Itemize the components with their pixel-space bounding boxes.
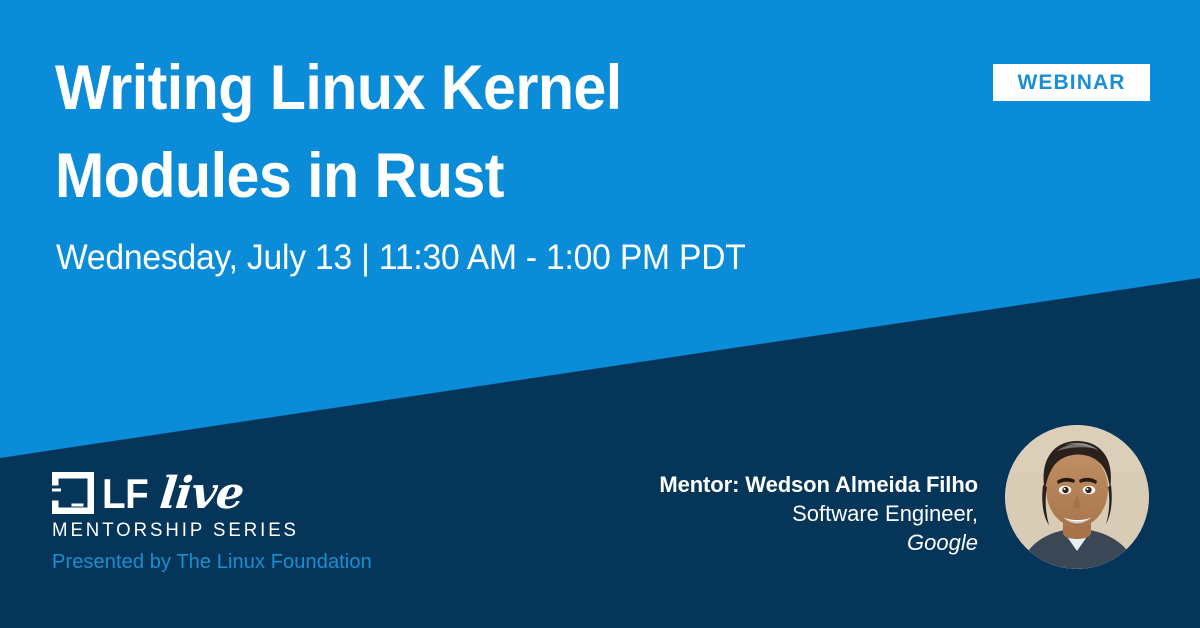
linux-foundation-square-bracket-icon [52, 472, 94, 514]
logo-lf-text: LF [102, 474, 148, 514]
logo-live-text: live [158, 474, 245, 514]
mentor-organization: Google [518, 528, 978, 557]
mentor-role: Software Engineer, [518, 499, 978, 528]
presented-by-label: Presented by The Linux Foundation [52, 552, 472, 572]
status-badge: WEBINAR [993, 64, 1150, 101]
page-title-line-2: Modules in Rust [55, 132, 769, 220]
logo-series-label: MENTORSHIP SERIES [52, 521, 464, 540]
status-badge-label: WEBINAR [1017, 72, 1125, 93]
mentor-details: Mentor: Wedson Almeida Filho Software En… [518, 470, 978, 557]
logo-top-row: LF live [52, 468, 472, 514]
mentor-name: Mentor: Wedson Almeida Filho [518, 470, 978, 499]
event-datetime: Wednesday, July 13 | 11:30 AM - 1:00 PM … [56, 238, 746, 278]
webinar-banner: WEBINAR Writing Linux Kernel Modules in … [0, 0, 1200, 628]
mentor-avatar [1005, 425, 1149, 569]
page-title-line-1: Writing Linux Kernel [55, 44, 769, 132]
page-title: Writing Linux Kernel Modules in Rust [55, 44, 769, 220]
lf-live-logo-lockup: LF live MENTORSHIP SERIES Presented by T… [52, 468, 472, 572]
